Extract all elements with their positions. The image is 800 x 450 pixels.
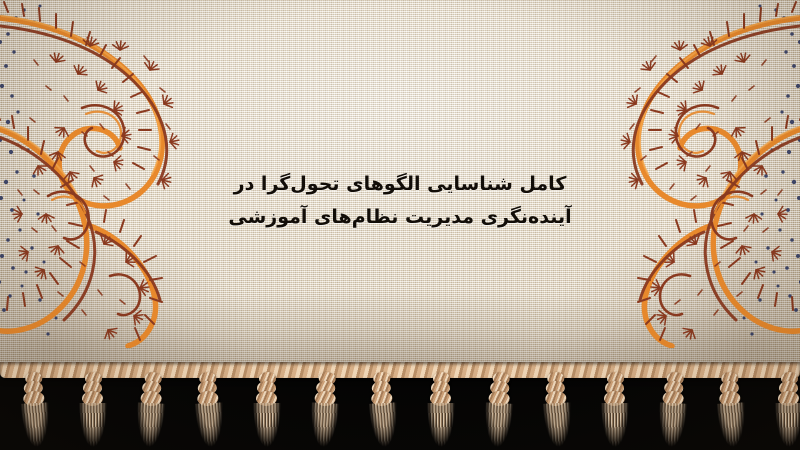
textile-background [0, 0, 800, 376]
tassel [772, 372, 800, 450]
tassel-skirt [600, 403, 630, 449]
slide-canvas: کامل شناسایی الگوهای تحول‌گرا در آینده‌ن… [0, 0, 800, 450]
tassel [654, 371, 692, 450]
tassel-skirt [194, 402, 226, 450]
tassel [538, 371, 576, 450]
tassel [76, 372, 110, 450]
tassel [132, 371, 170, 450]
tassel-skirt [774, 403, 800, 449]
tassel [598, 372, 632, 450]
tassel-skirt [78, 403, 108, 449]
linen-weave-texture [0, 0, 800, 376]
tassel-skirt [542, 402, 574, 450]
tassel-skirt [426, 403, 456, 449]
tassel [364, 371, 402, 450]
tassel [712, 371, 750, 450]
fabric-shading-overlay [0, 0, 800, 376]
tassel-skirt [656, 402, 688, 450]
tassel-skirt [308, 402, 340, 450]
tassel [16, 371, 54, 450]
tassel [424, 372, 458, 450]
tassel [190, 371, 228, 450]
tassel-skirt [252, 403, 282, 449]
tassel-skirt [134, 402, 166, 450]
tassel-skirt [20, 402, 52, 450]
tassel-skirt [368, 402, 400, 450]
tassel-skirt [482, 402, 514, 450]
tassel [250, 372, 284, 450]
tassel [480, 371, 518, 450]
tassel-skirt [716, 402, 748, 450]
tassel [306, 371, 344, 450]
